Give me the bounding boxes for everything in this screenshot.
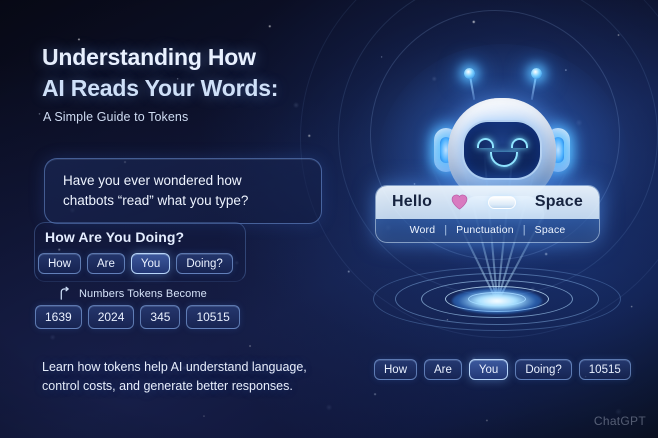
word-token-chip-1[interactable]: Are (87, 253, 125, 274)
halo-arc-middle-icon (338, 0, 658, 296)
hologram-ring-icon (468, 292, 526, 306)
number-token-chip-row: 1639202434510515 (35, 305, 240, 329)
hologram-card-label-row: Word | Punctuation | Space (376, 219, 599, 242)
token-demo-heading: How Are You Doing? (45, 229, 184, 245)
hologram-separator: | (444, 224, 447, 236)
hologram-card-top-row: Hello Space (376, 186, 599, 219)
footer-token-chip-3[interactable]: Doing? (515, 359, 571, 380)
robot-ear-core-right-icon (552, 137, 564, 163)
footer-token-chip-0[interactable]: How (374, 359, 417, 380)
chatgpt-watermark: ChatGPT (594, 414, 646, 428)
number-token-chip-3[interactable]: 10515 (186, 305, 239, 329)
question-callout-box: Have you ever wondered how chatbots “rea… (44, 158, 322, 224)
hologram-word-hello: Hello (392, 193, 432, 211)
word-token-chip-3[interactable]: Doing? (176, 253, 232, 274)
space-pill-icon (488, 196, 516, 209)
page-title-line-1: Understanding How (42, 42, 278, 73)
number-token-chip-2[interactable]: 345 (140, 305, 180, 329)
bottom-caption: Learn how tokens help AI understand lang… (42, 358, 362, 397)
hologram-label-word: Word (410, 224, 436, 236)
page-title-line-2: AI Reads Your Words: (42, 73, 278, 104)
question-line-2: chatbots “read” what you type? (63, 191, 303, 211)
robot-smile-icon (490, 152, 518, 167)
poster-canvas: Understanding How AI Reads Your Words: A… (0, 0, 658, 438)
robot-ear-left-icon (434, 128, 458, 172)
robot-antenna-left-icon (469, 74, 475, 100)
hologram-base (372, 258, 622, 354)
numbers-become-label: Numbers Tokens Become (79, 288, 207, 300)
page-subtitle: A Simple Guide to Tokens (43, 110, 188, 124)
robot-ear-right-icon (546, 128, 570, 172)
robot-antenna-tip-right-icon (531, 68, 542, 79)
hologram-word-space: Space (535, 193, 583, 211)
arrow-curve-up-icon (58, 286, 73, 301)
word-token-chip-2[interactable]: You (131, 253, 170, 274)
bottom-caption-line-2: control costs, and generate better respo… (42, 377, 362, 396)
hologram-separator: | (523, 224, 526, 236)
hologram-ring-icon (373, 267, 621, 331)
numbers-become-row: Numbers Tokens Become (58, 286, 207, 301)
robot-ear-core-left-icon (440, 137, 452, 163)
hologram-label-space: Space (535, 224, 566, 236)
page-title: Understanding How AI Reads Your Words: (42, 42, 278, 103)
hologram-ring-icon (421, 280, 573, 318)
footer-token-chip-1[interactable]: Are (424, 359, 462, 380)
number-token-chip-0[interactable]: 1639 (35, 305, 82, 329)
word-token-chip-row: HowAreYouDoing? (38, 253, 233, 274)
number-token-chip-1[interactable]: 2024 (88, 305, 135, 329)
hologram-core-glow-icon (452, 288, 542, 314)
halo-arc-outer-icon (300, 0, 658, 338)
hologram-ring-icon (395, 273, 599, 325)
robot-face-screen-icon (462, 120, 542, 180)
hologram-label-punctuation: Punctuation (456, 224, 514, 236)
footer-token-chip-4[interactable]: 10515 (579, 359, 631, 380)
heart-icon (451, 194, 468, 210)
word-token-chip-0[interactable]: How (38, 253, 81, 274)
hologram-ring-icon (445, 286, 549, 312)
hologram-token-card: Hello Space Word | Punctuation | Space (375, 185, 600, 243)
robot-antenna-tip-left-icon (464, 68, 475, 79)
footer-token-chip-row: HowAreYouDoing?10515 (374, 359, 631, 380)
robot-eye-left-icon (477, 138, 494, 148)
robot-eye-right-icon (511, 138, 528, 148)
bottom-caption-line-1: Learn how tokens help AI understand lang… (42, 358, 362, 377)
question-line-1: Have you ever wondered how (63, 171, 303, 191)
robot-antenna-right-icon (531, 74, 537, 100)
footer-token-chip-2[interactable]: You (469, 359, 508, 380)
